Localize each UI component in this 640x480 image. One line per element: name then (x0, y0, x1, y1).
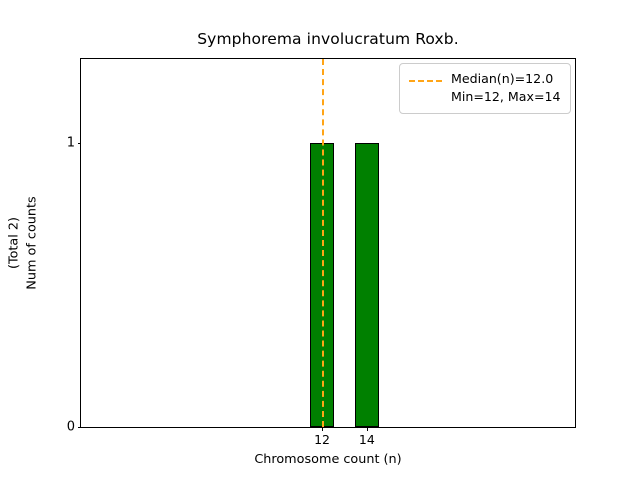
legend: Median(n)=12.0 Min=12, Max=14 (399, 63, 571, 114)
legend-entry-label: Median(n)=12.0 Min=12, Max=14 (451, 70, 561, 106)
y-tick-mark (78, 143, 82, 144)
y-axis-label: (Total 2) Num of counts (5, 196, 40, 289)
chart-title: Symphorema involucratum Roxb. (80, 30, 576, 48)
y-axis-label-container: (Total 2) Num of counts (0, 58, 46, 428)
y-tick-label: 1 (67, 136, 75, 149)
y-axis-label-line2: (Total 2) (5, 196, 23, 289)
chart-figure: Symphorema involucratum Roxb. (Total 2) … (0, 0, 640, 480)
plot-area: 0 1 12 14 Median(n)=12.0 Min=12, Max= (80, 58, 576, 428)
x-tick-label: 14 (359, 434, 375, 447)
legend-label-line1: Median(n)=12.0 (451, 71, 553, 86)
x-tick-mark (322, 427, 323, 431)
legend-label-line2: Min=12, Max=14 (451, 89, 561, 104)
x-tick-label: 12 (314, 434, 330, 447)
bar-14 (355, 143, 379, 427)
legend-dashed-line-icon (409, 72, 442, 90)
y-axis-label-line1: Num of counts (23, 196, 41, 289)
median-line (322, 59, 324, 427)
y-tick-mark (78, 427, 82, 428)
x-tick-mark (367, 427, 368, 431)
legend-entry: Median(n)=12.0 Min=12, Max=14 (409, 70, 561, 106)
y-tick-label: 0 (67, 421, 75, 434)
x-axis-label: Chromosome count (n) (80, 452, 576, 467)
